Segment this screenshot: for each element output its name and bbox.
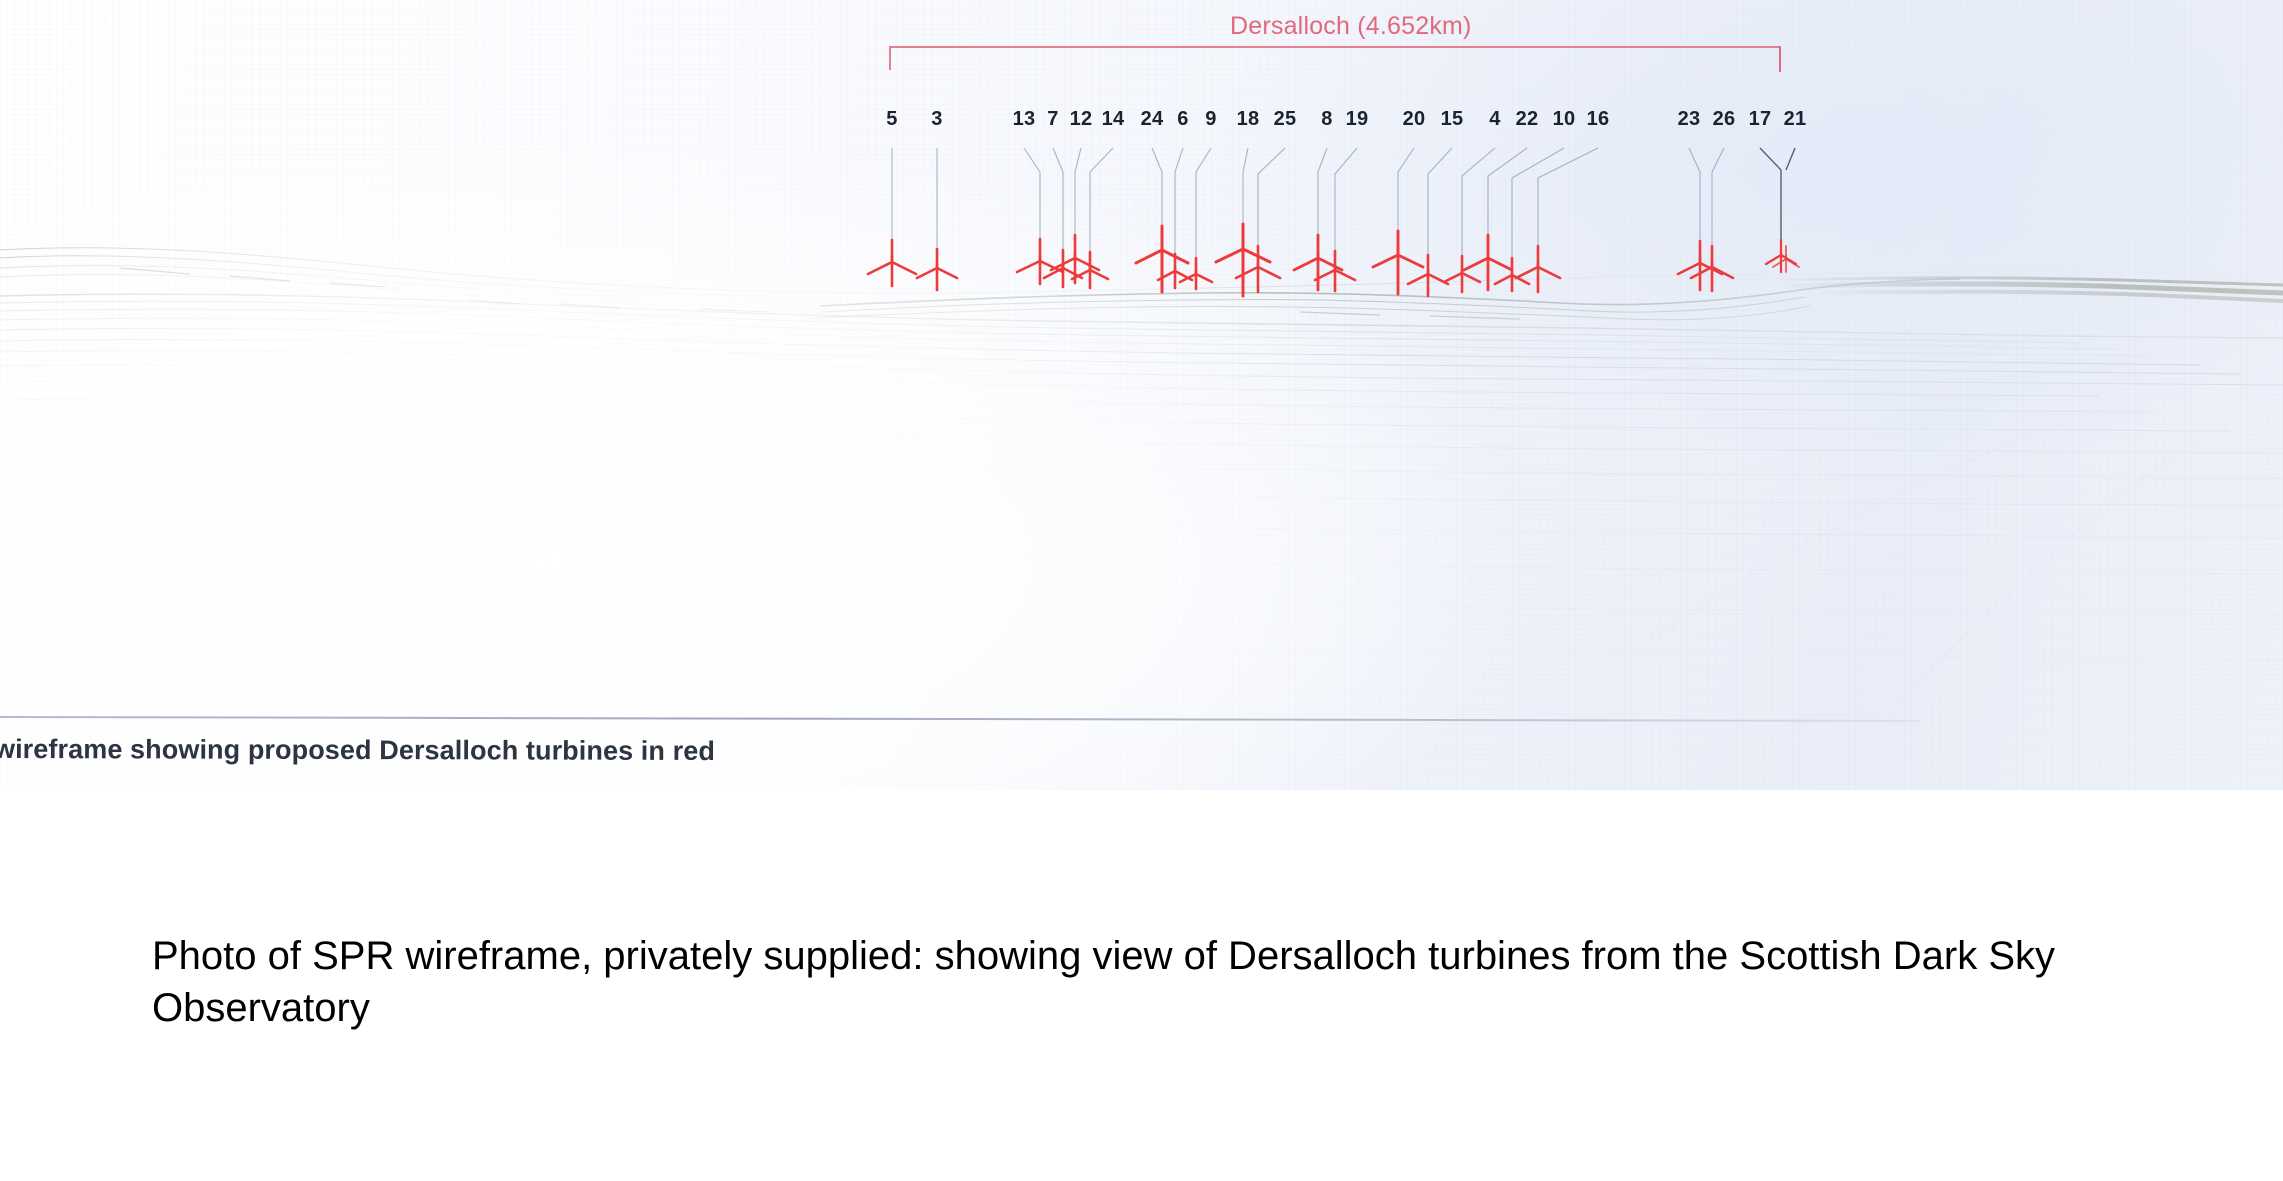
figure-caption: Photo of SPR wireframe, privately suppli… (152, 930, 2112, 1034)
turbine-label-24: 24 (1141, 108, 1164, 131)
turbine-label-21: 21 (1784, 108, 1807, 131)
turbine-label-15: 15 (1441, 108, 1464, 131)
turbine-label-8: 8 (1321, 108, 1332, 131)
turbine-label-25: 25 (1274, 108, 1297, 131)
turbine-label-17: 17 (1749, 108, 1772, 131)
turbine-label-26: 26 (1713, 108, 1736, 131)
extent-distance-label: Dersalloch (4.652km) (1230, 12, 1472, 41)
turbine-label-4: 4 (1489, 108, 1500, 131)
turbine-label-12: 12 (1070, 108, 1093, 131)
turbine-label-3: 3 (931, 108, 942, 131)
turbine-label-14: 14 (1102, 108, 1125, 131)
turbine-label-7: 7 (1047, 108, 1058, 131)
turbine-label-20: 20 (1403, 108, 1426, 131)
turbine-label-5: 5 (886, 108, 897, 131)
turbine-label-22: 22 (1516, 108, 1539, 131)
scanned-wireframe-photo: Dersalloch (4.652km) 5313712142469182581… (0, 0, 2283, 790)
turbine-label-13: 13 (1013, 108, 1036, 131)
turbine-label-9: 9 (1205, 108, 1216, 131)
turbine-label-19: 19 (1346, 108, 1369, 131)
scan-caption-text: wireframe showing proposed Dersalloch tu… (0, 734, 715, 767)
turbine-label-10: 10 (1553, 108, 1576, 131)
turbine-label-16: 16 (1587, 108, 1610, 131)
turbine-label-18: 18 (1237, 108, 1260, 131)
turbine-label-23: 23 (1678, 108, 1701, 131)
turbine-label-6: 6 (1177, 108, 1188, 131)
